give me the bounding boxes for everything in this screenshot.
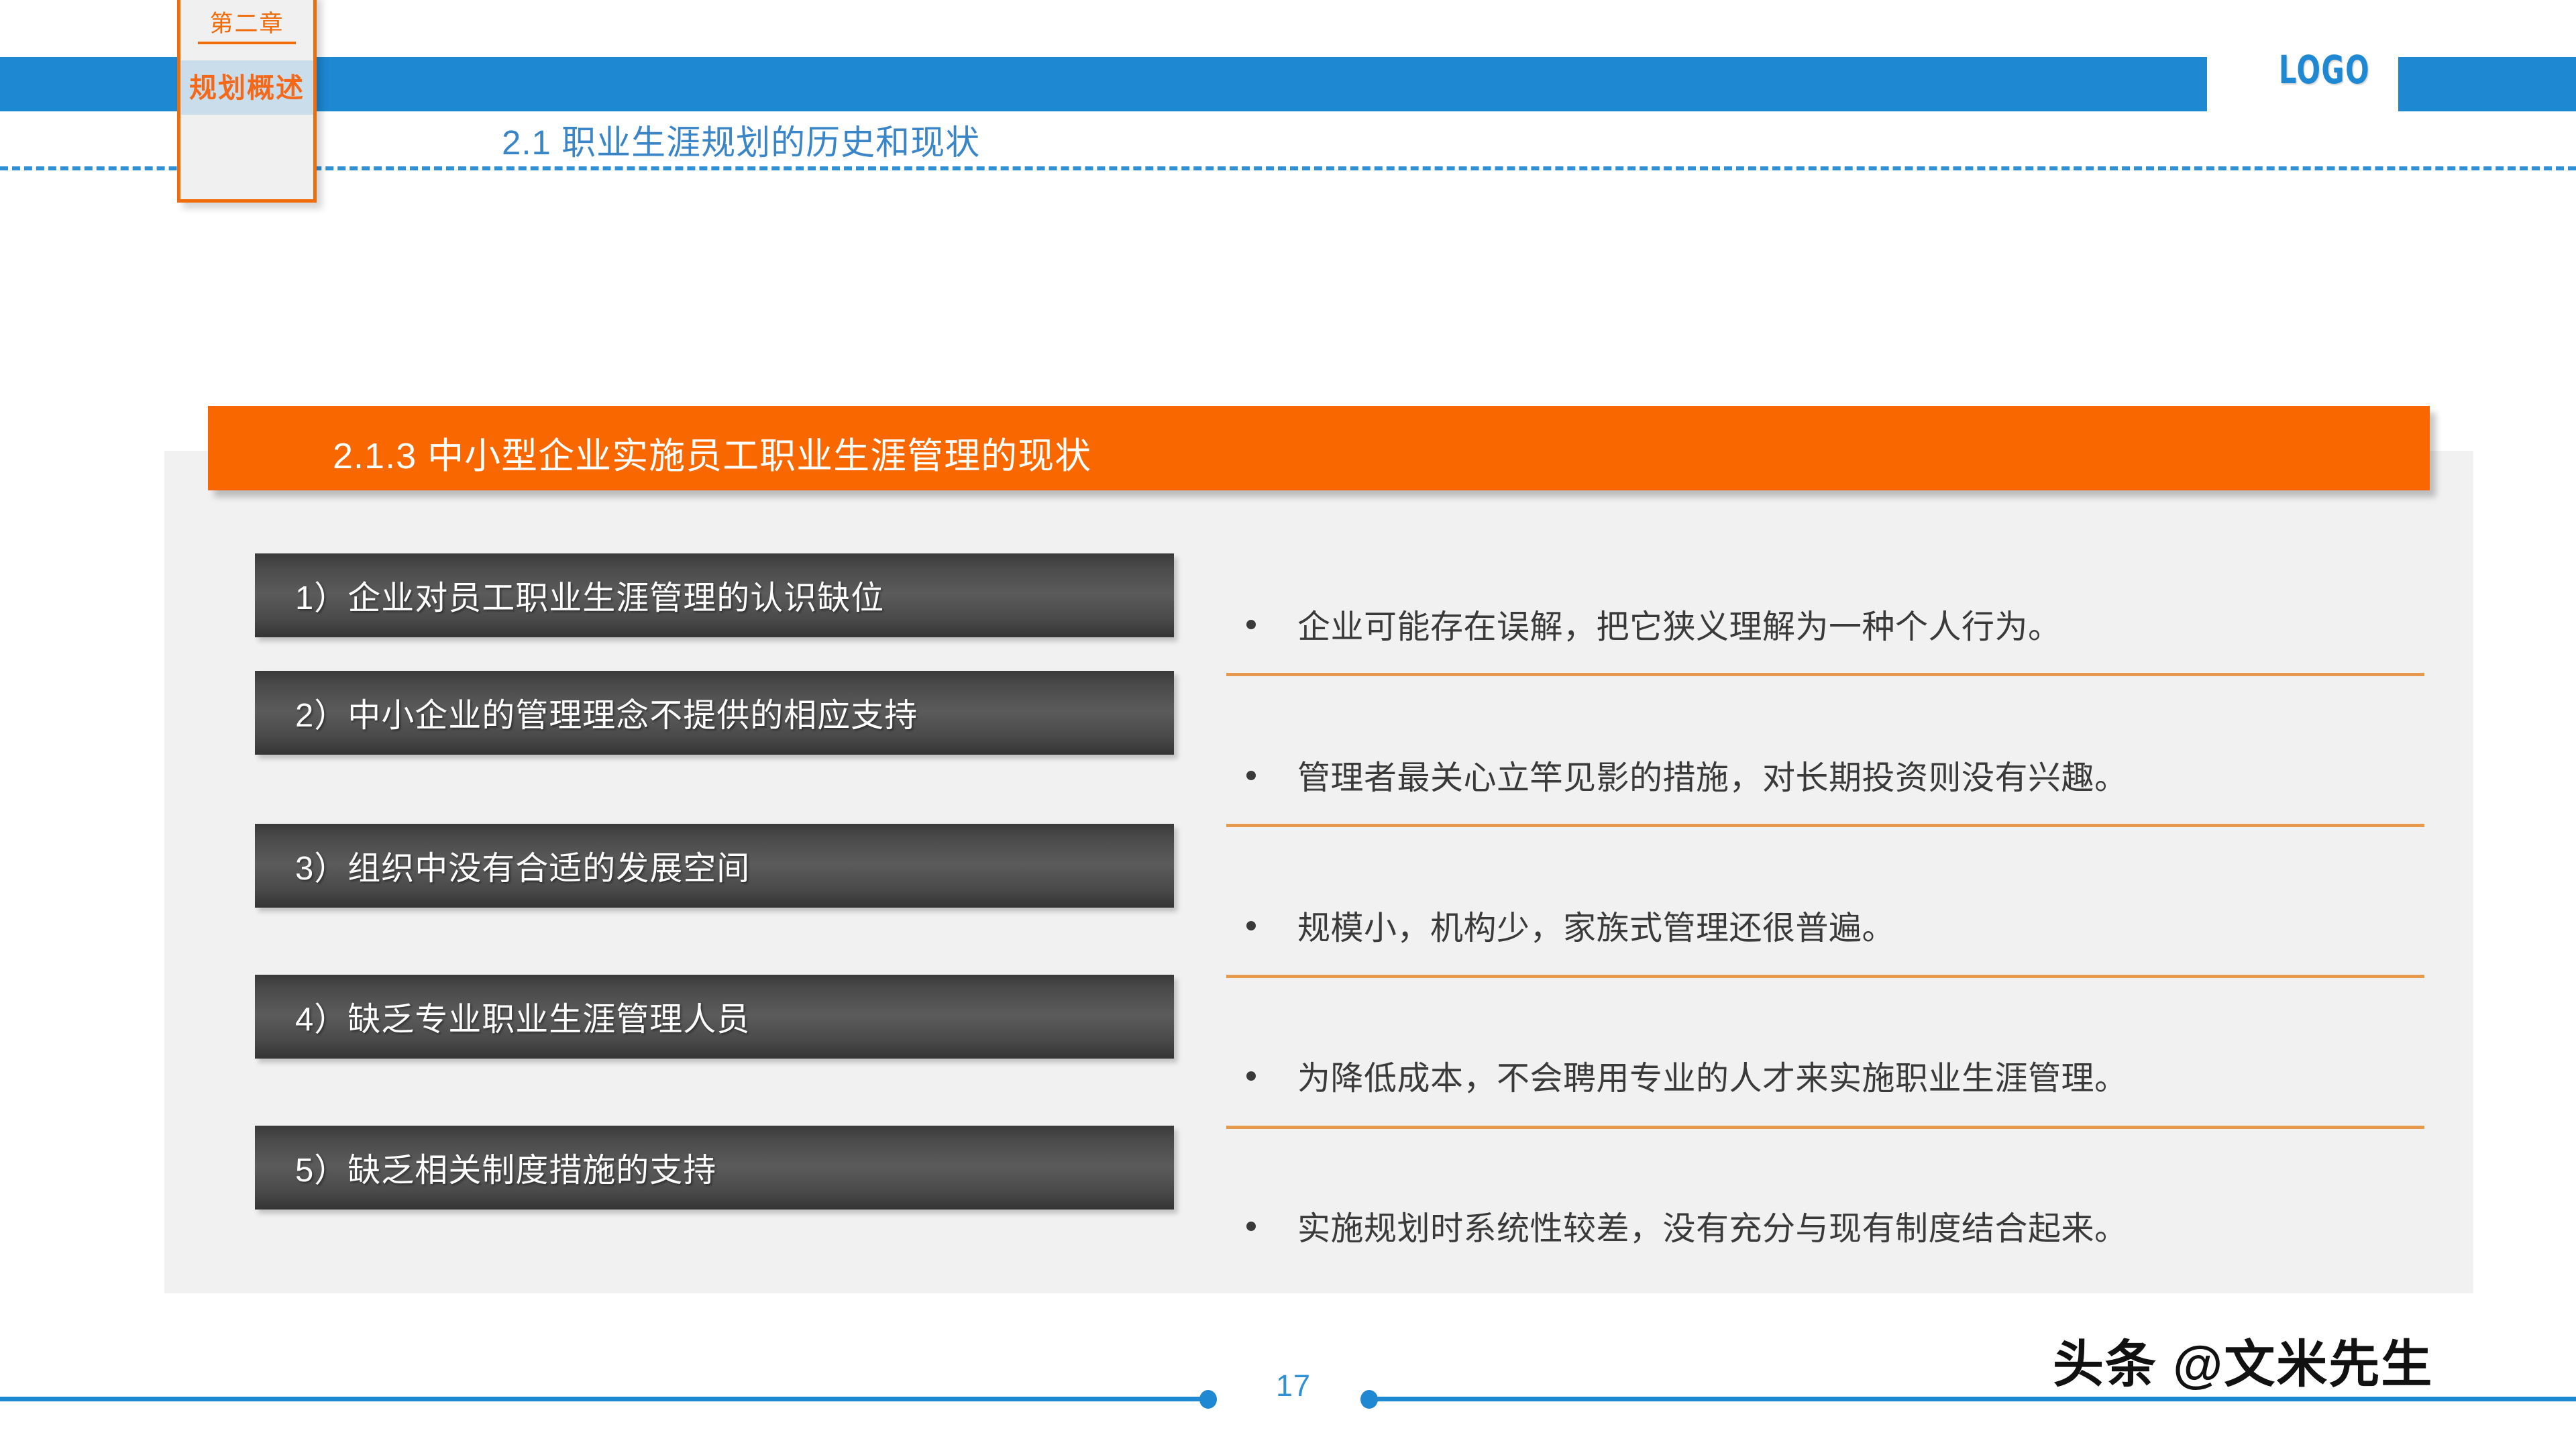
chapter-badge: 第二章 规划概述 [177,0,317,203]
bullet-text: 管理者最关心立竿见影的措施，对长期投资则没有兴趣。 [1297,751,2128,799]
footer-dot-left-icon [1199,1390,1217,1409]
bullet-row-4: 为降低成本，不会聘用专业的人才来实施职业生涯管理。 [1226,1037,2424,1114]
bullet-separator-3 [1226,975,2424,978]
bullet-separator-2 [1226,824,2424,827]
chapter-badge-divider [198,42,296,44]
item-box-label: 2）中小企业的管理理念不提供的相应支持 [295,671,918,755]
bullet-separator-1 [1226,673,2424,676]
header-blue-band-left [0,57,2207,111]
bullet-point-icon [1246,1071,1256,1081]
bullet-row-2: 管理者最关心立竿见影的措施，对长期投资则没有兴趣。 [1226,737,2424,814]
bullet-separator-4 [1226,1126,2424,1129]
footer-line-right [1372,1397,2576,1401]
bullet-point-icon [1246,771,1256,780]
item-box-label: 1）企业对员工职业生涯管理的认识缺位 [295,553,884,637]
bullet-point-icon [1246,1222,1256,1231]
bullet-row-1: 企业可能存在误解，把它狭义理解为一种个人行为。 [1226,586,2424,663]
bullet-row-3: 规模小，机构少，家族式管理还很普遍。 [1226,887,2424,964]
header-blue-band-right [2398,57,2576,111]
bullet-text: 为降低成本，不会聘用专业的人才来实施职业生涯管理。 [1297,1052,2128,1099]
page-number: 17 [1233,1368,1354,1403]
content-title-bar: 2.1.3 中小型企业实施员工职业生涯管理的现状 [208,406,2430,490]
item-box-label: 4）缺乏专业职业生涯管理人员 [295,975,750,1059]
item-box-label: 5）缺乏相关制度措施的支持 [295,1126,716,1210]
bullet-point-icon [1246,620,1256,629]
bullet-text: 企业可能存在误解，把它狭义理解为一种个人行为。 [1297,600,2061,648]
item-box-2[interactable]: 2）中小企业的管理理念不提供的相应支持 [255,671,1174,755]
chapter-number: 第二章 [180,5,313,39]
footer-line-left [0,1397,1207,1401]
watermark: 头条 @文米先生 [2053,1323,2433,1397]
item-box-3[interactable]: 3）组织中没有合适的发展空间 [255,824,1174,908]
header-dashed-divider [0,166,2576,170]
bullet-row-5: 实施规划时系统性较差，没有充分与现有制度结合起来。 [1226,1187,2424,1265]
logo: LOGO [2267,50,2383,89]
content-title-label: 2.1.3 中小型企业实施员工职业生涯管理的现状 [333,426,1091,479]
chapter-name: 规划概述 [180,65,313,105]
bullet-point-icon [1246,921,1256,930]
bullet-text: 实施规划时系统性较差，没有充分与现有制度结合起来。 [1297,1202,2128,1250]
item-box-5[interactable]: 5）缺乏相关制度措施的支持 [255,1126,1174,1210]
item-box-4[interactable]: 4）缺乏专业职业生涯管理人员 [255,975,1174,1059]
bullet-text: 规模小，机构少，家族式管理还很普遍。 [1297,902,1895,949]
section-title: 2.1 职业生涯规划的历史和现状 [502,115,980,164]
item-box-label: 3）组织中没有合适的发展空间 [295,824,750,908]
item-box-1[interactable]: 1）企业对员工职业生涯管理的认识缺位 [255,553,1174,637]
